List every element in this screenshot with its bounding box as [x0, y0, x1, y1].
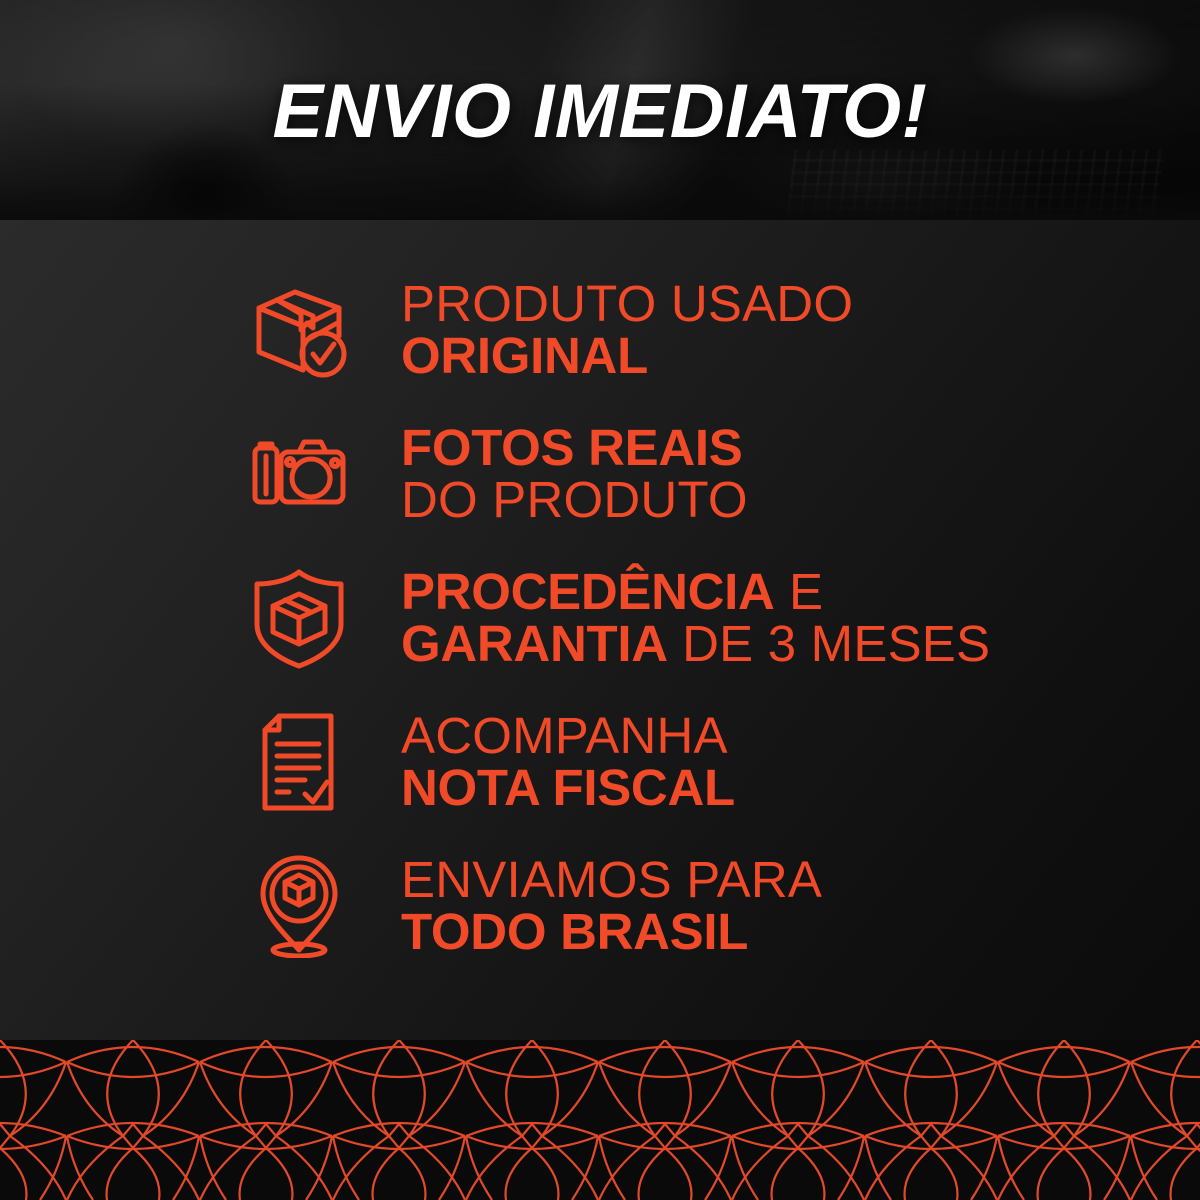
feature-row: PRODUTO USADO ORIGINAL — [0, 258, 1200, 402]
feature-line: ORIGINAL — [401, 330, 853, 382]
feature-line: GARANTIA DE 3 MESES — [401, 618, 990, 670]
feature-line-part: FOTOS REAIS — [401, 419, 742, 476]
feature-line-part: DO PRODUTO — [401, 471, 748, 528]
feature-line: PROCEDÊNCIA E — [401, 566, 990, 618]
camera-icon — [243, 418, 355, 530]
feature-line-part: NOTA FISCAL — [401, 759, 735, 816]
package-box-check-icon — [243, 274, 355, 386]
shield-box-icon — [243, 562, 355, 674]
feature-text: ENVIAMOS PARA TODO BRASIL — [401, 854, 822, 958]
map-pin-box-icon — [243, 850, 355, 962]
feature-row: ACOMPANHA NOTA FISCAL — [0, 690, 1200, 834]
feature-line: TODO BRASIL — [401, 906, 822, 958]
feature-line: NOTA FISCAL — [401, 762, 735, 814]
feature-line-part: ENVIAMOS PARA — [401, 851, 822, 908]
feature-line: FOTOS REAIS — [401, 422, 748, 474]
feature-text: FOTOS REAIS DO PRODUTO — [401, 422, 748, 526]
feature-text: ACOMPANHA NOTA FISCAL — [401, 710, 735, 814]
feature-line-part: PROCEDÊNCIA — [401, 563, 775, 620]
feature-line-part: GARANTIA — [401, 615, 668, 672]
feature-line: PRODUTO USADO — [401, 278, 853, 330]
feature-line: ENVIAMOS PARA — [401, 854, 822, 906]
feature-line: ACOMPANHA — [401, 710, 735, 762]
feature-text: PRODUTO USADO ORIGINAL — [401, 278, 853, 382]
feature-line-suffix: DE 3 MESES — [668, 615, 990, 672]
floral-lattice-border — [0, 1040, 1200, 1200]
feature-line-part: ORIGINAL — [401, 327, 648, 384]
feature-line-part: TODO BRASIL — [401, 903, 748, 960]
feature-line-suffix: E — [775, 563, 824, 620]
feature-row: PROCEDÊNCIA E GARANTIA DE 3 MESES — [0, 546, 1200, 690]
promo-banner: ENVIO IMEDIATO! PRODUTO US — [0, 0, 1200, 1200]
feature-text: PROCEDÊNCIA E GARANTIA DE 3 MESES — [401, 566, 990, 670]
hero-header: ENVIO IMEDIATO! — [0, 0, 1200, 222]
feature-line: DO PRODUTO — [401, 474, 748, 526]
feature-row: FOTOS REAIS DO PRODUTO — [0, 402, 1200, 546]
feature-list: PRODUTO USADO ORIGINAL — [0, 258, 1200, 978]
invoice-document-check-icon — [243, 706, 355, 818]
feature-line-part: PRODUTO USADO — [401, 275, 853, 332]
page-title: ENVIO IMEDIATO! — [0, 74, 1200, 150]
feature-line-part: ACOMPANHA — [401, 707, 728, 764]
feature-row: ENVIAMOS PARA TODO BRASIL — [0, 834, 1200, 978]
